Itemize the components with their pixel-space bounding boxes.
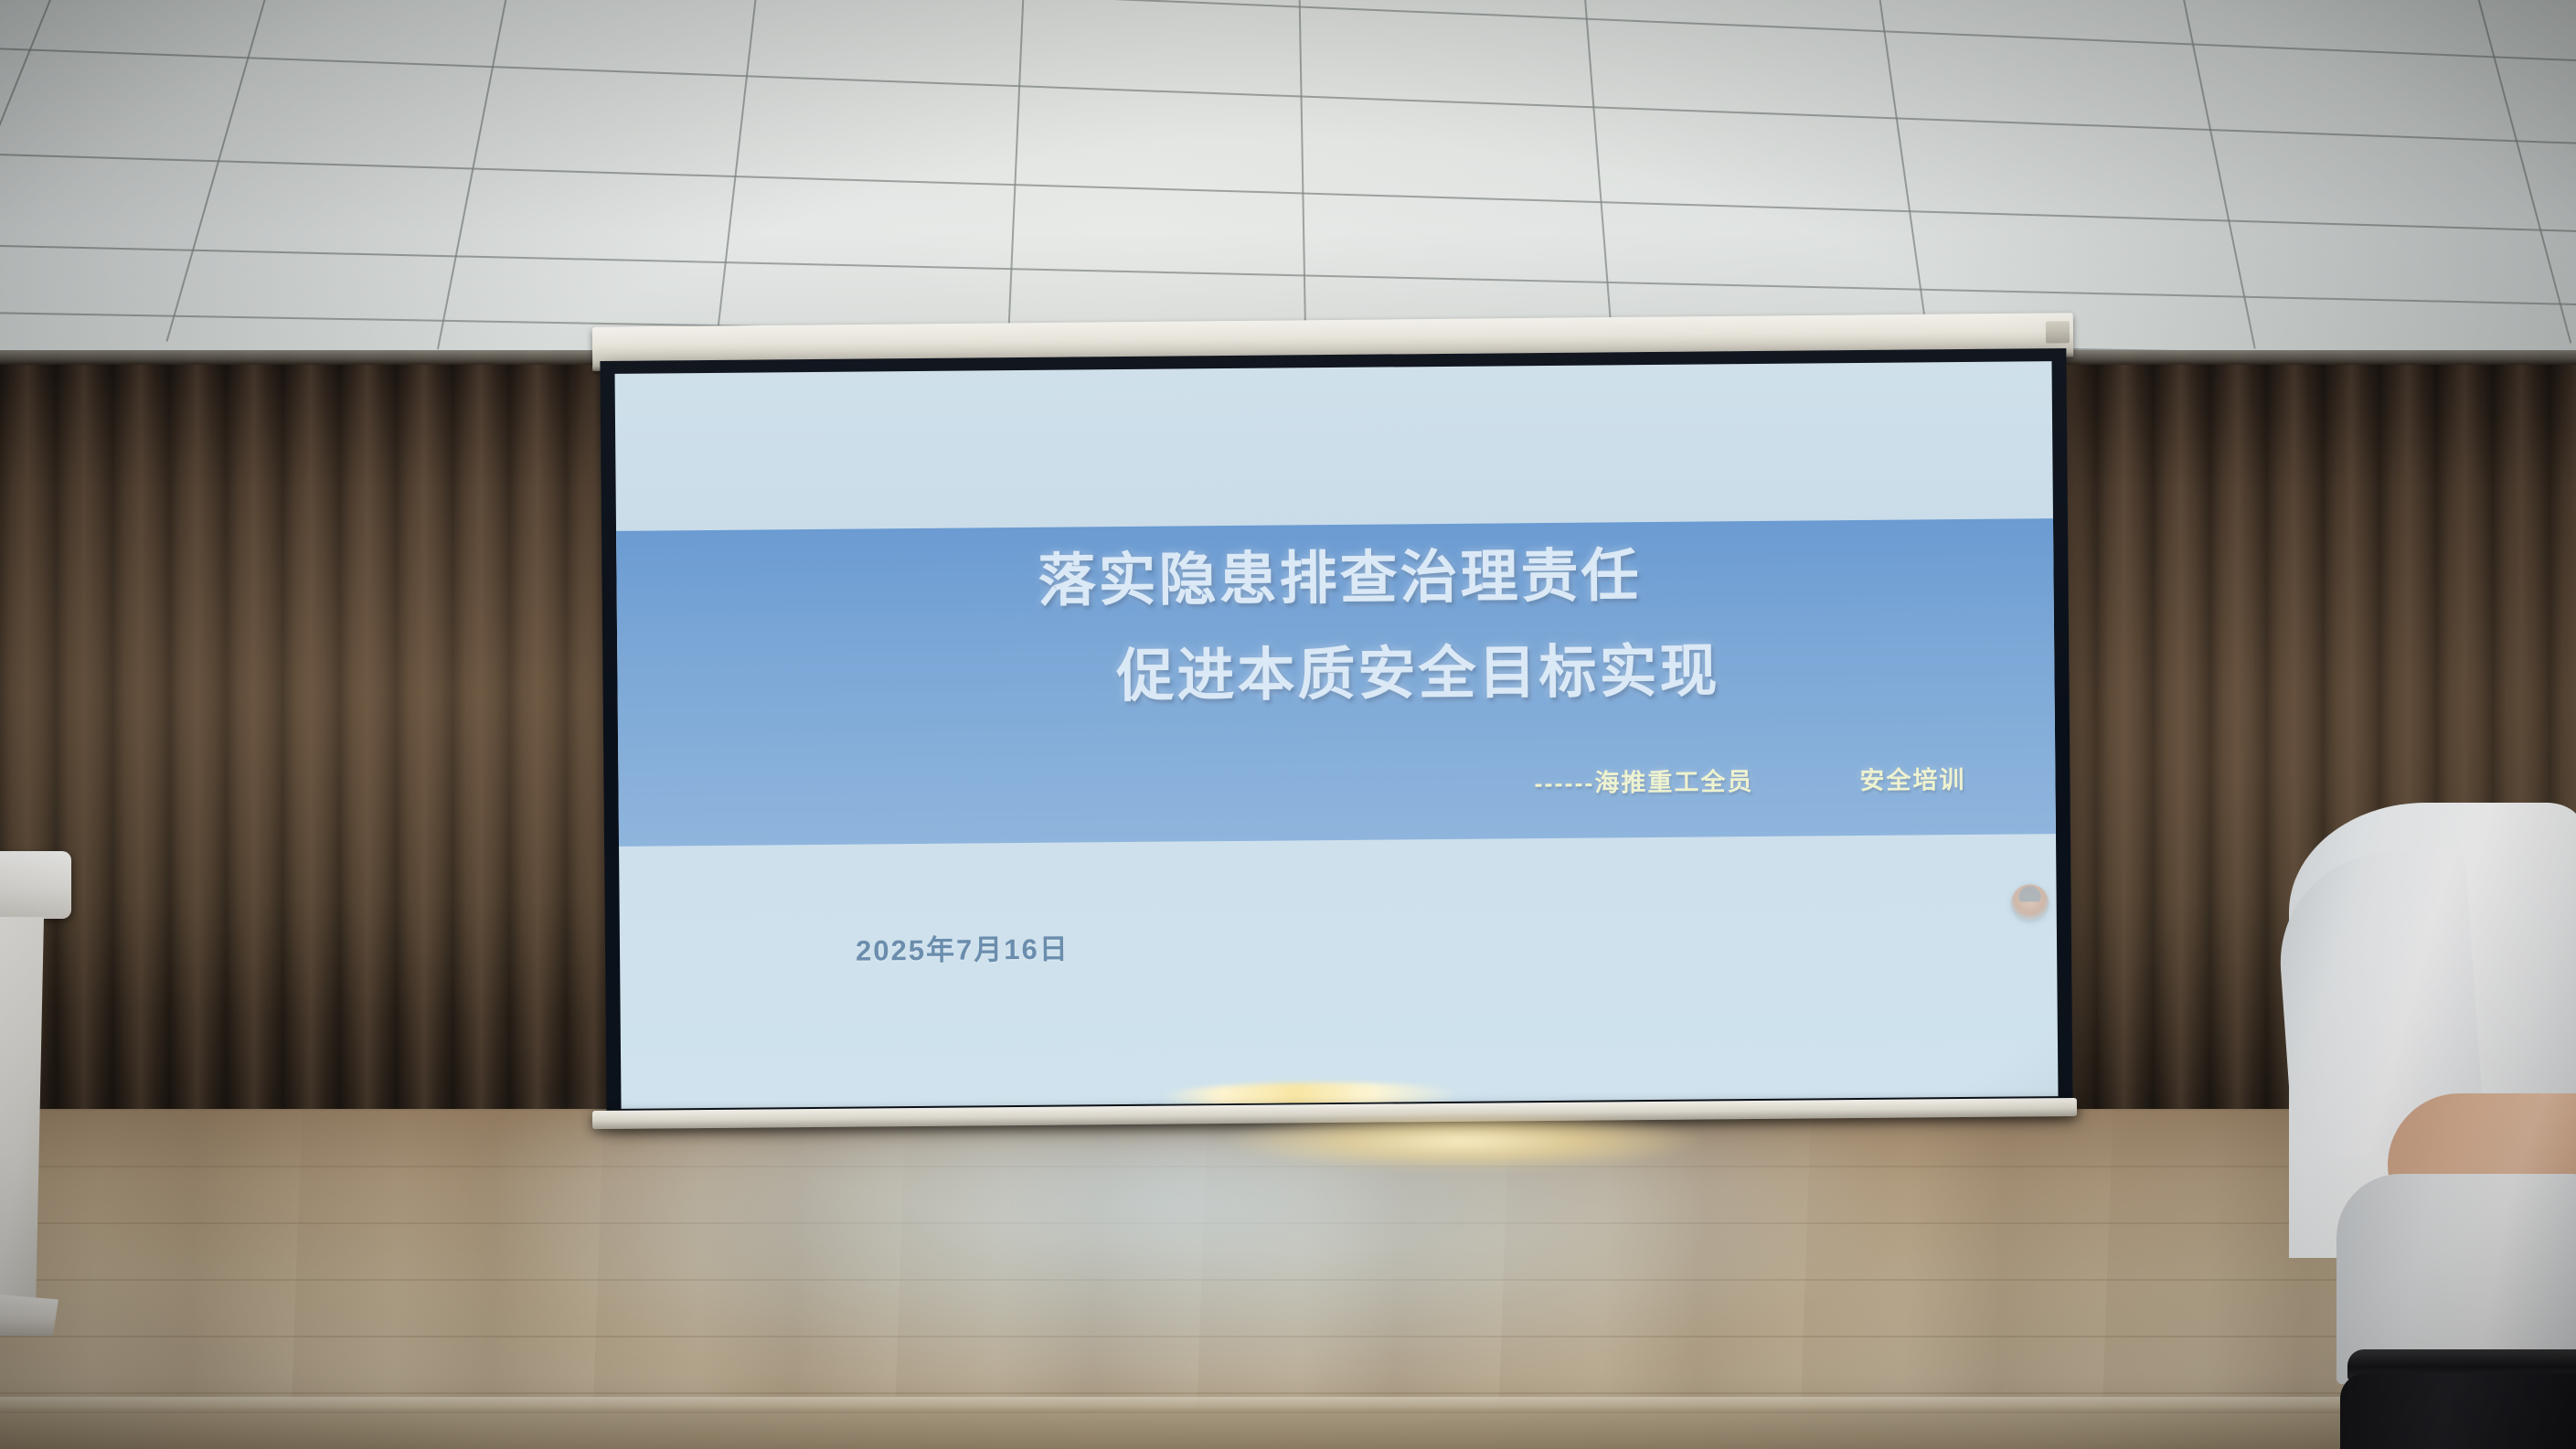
slide-title-line-2: 促进本质安全目标实现: [617, 622, 2055, 718]
housing-end-cap: [2046, 321, 2070, 343]
slide-title-block: 落实隐患排查治理责任 促进本质安全目标实现: [616, 533, 2055, 710]
person-standing: [2282, 803, 2576, 1449]
conference-room-scene: 落实隐患排查治理责任 促进本质安全目标实现 ------海推重工全员 安全培训 …: [0, 0, 2576, 1449]
lectern-top: [0, 851, 71, 919]
slide-subtitle-right: 安全培训: [1859, 759, 1965, 795]
projection-screen: 落实隐患排查治理责任 促进本质安全目标实现 ------海推重工全员 安全培训 …: [600, 348, 2072, 1120]
lectern-base: [0, 1294, 59, 1336]
slide-cartoon-avatar-icon: [2010, 884, 2049, 922]
screen-reflection-glare: [1225, 1117, 1700, 1170]
slide-title-line-1: 落实隐患排查治理责任: [616, 526, 2054, 622]
person-trousers: [2340, 1373, 2576, 1449]
floor-edge-trim: [0, 1397, 2576, 1413]
ceiling: [0, 0, 2576, 358]
lectern: [0, 851, 71, 1400]
slide-subtitle-left: ------海推重工全员: [1534, 762, 1753, 799]
lectern-column: [0, 917, 44, 1299]
slide-date: 2025年7月16日: [856, 926, 1070, 969]
projection-screen-surface: 落实隐患排查治理责任 促进本质安全目标实现 ------海推重工全员 安全培训 …: [615, 361, 2059, 1109]
ceiling-lighting-tint: [0, 0, 2576, 358]
floor-foreground-strip: [0, 1413, 2576, 1449]
